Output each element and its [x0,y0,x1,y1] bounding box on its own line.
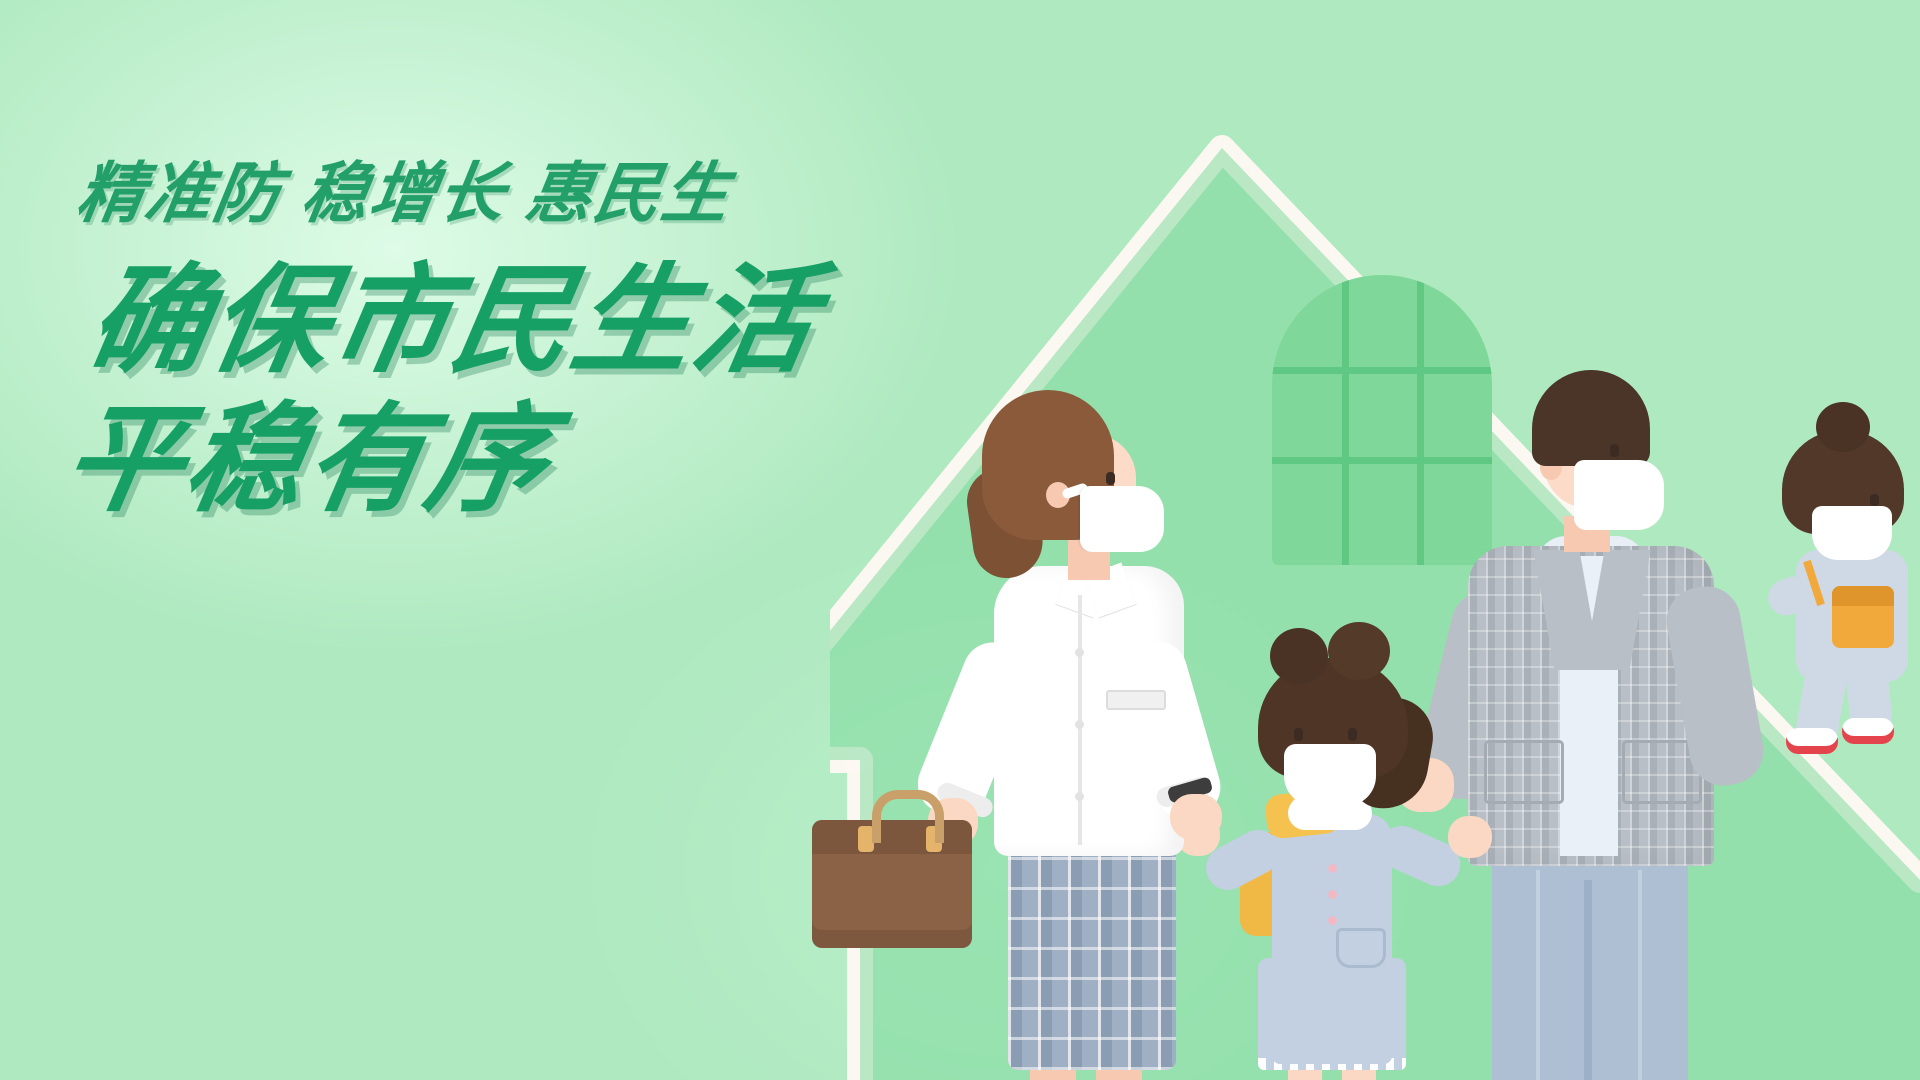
figure-girl [1232,628,1482,1080]
headline-main: 确保市民生活 平稳有序 [53,252,982,530]
girl-eye-left [1294,728,1303,741]
girl-dress-pocket [1336,928,1386,968]
toddler-hair-bun [1816,402,1870,452]
headline-main-line-1: 确保市民生活 [78,252,983,391]
mother-plaid-skirt [1008,840,1176,1070]
father-jeans-seam [1584,880,1592,1080]
figure-mother [930,390,1230,1080]
girl-hand-right [1448,816,1492,858]
toddler-eye [1870,494,1879,506]
headline-kicker: 精准防 稳增长 惠民生 [73,160,963,226]
father-hair [1532,370,1650,466]
father-pocket-left [1484,740,1564,804]
mother-briefcase-handle [872,790,944,843]
girl-hair-bun-right [1328,622,1390,680]
poster-canvas: 精准防 稳增长 惠民生 确保市民生活 平稳有序 [0,0,1920,1080]
headline-block: 精准防 稳增长 惠民生 确保市民生活 平稳有序 [78,160,958,530]
family-illustration [880,360,1920,1080]
figure-toddler [1724,410,1920,740]
toddler-bag-flap [1832,586,1894,606]
figure-father [1440,360,1860,1080]
father-eye [1610,444,1619,457]
girl-hair-bun-left [1270,628,1328,684]
father-jeans-crease-left [1536,870,1540,1080]
father-face-mask [1574,460,1664,530]
headline-main-line-2: 平稳有序 [53,391,958,530]
toddler-shoe-left [1786,728,1838,754]
toddler-face-mask [1812,506,1892,560]
mother-eye [1106,472,1115,485]
toddler-shoe-right [1842,718,1894,744]
mother-hand-right [1170,794,1222,840]
mother-face-mask [1080,486,1164,552]
girl-face-mask [1284,744,1376,806]
father-jeans-crease-right [1638,870,1642,1080]
mother-shirt-pocket [1106,690,1166,710]
girl-eye-right [1348,728,1357,741]
